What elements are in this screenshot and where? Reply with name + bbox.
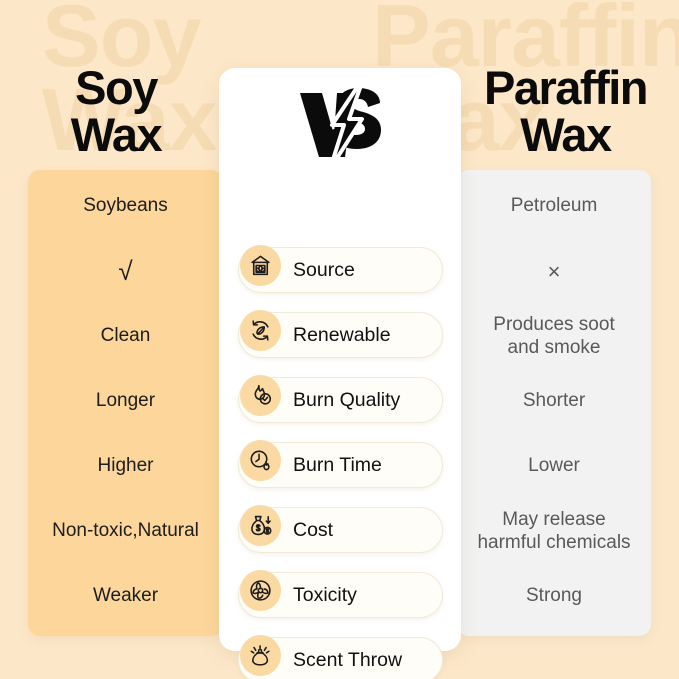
value-text: Clean bbox=[30, 325, 221, 347]
clock-flame-icon-badge bbox=[240, 440, 281, 481]
value-text: May release harmful chemicals bbox=[459, 509, 649, 554]
vs-lightning-icon bbox=[292, 77, 388, 169]
soy-value-cost: Higher bbox=[28, 434, 223, 499]
paraffin-value-burn-time: Shorter bbox=[457, 369, 651, 434]
feature-row-renewable[interactable]: Renewable bbox=[219, 303, 461, 368]
soy-value-toxicity: Non-toxic,Natural bbox=[28, 499, 223, 564]
money-bag-icon-badge bbox=[240, 505, 281, 546]
value-text: Weaker bbox=[30, 585, 221, 607]
soy-value-scent-throw: Weaker bbox=[28, 564, 223, 629]
value-text: Longer bbox=[30, 390, 221, 412]
scent-sachet-icon bbox=[248, 643, 273, 668]
money-bag-icon bbox=[248, 513, 273, 538]
value-text: Lower bbox=[459, 455, 649, 477]
paraffin-value-scent-throw: Strong bbox=[457, 564, 651, 629]
scent-sachet-icon-badge bbox=[240, 635, 281, 676]
paraffin-value-burn-quality: Produces soot and smoke bbox=[457, 304, 651, 369]
feature-label: Cost bbox=[293, 498, 333, 563]
biohazard-icon-badge bbox=[240, 570, 281, 611]
feature-label: Scent Throw bbox=[293, 628, 402, 679]
feature-list-card: SourceRenewableBurn QualityBurn TimeCost… bbox=[219, 68, 461, 651]
clock-flame-icon bbox=[248, 448, 273, 473]
paraffin-value-toxicity: May release harmful chemicals bbox=[457, 499, 651, 564]
value-text: Produces soot and smoke bbox=[459, 314, 649, 359]
feature-row-toxicity[interactable]: Toxicity bbox=[219, 563, 461, 628]
soy-value-renewable: √ bbox=[28, 239, 223, 304]
feature-row-scent-throw[interactable]: Scent Throw bbox=[219, 628, 461, 679]
feature-label: Toxicity bbox=[293, 563, 357, 628]
recycle-leaf-icon bbox=[248, 318, 273, 343]
value-text: √ bbox=[30, 256, 221, 287]
soy-sack-icon bbox=[248, 253, 273, 278]
feature-label: Burn Quality bbox=[293, 368, 400, 433]
feature-label: Renewable bbox=[293, 303, 391, 368]
paraffin-value-cost: Lower bbox=[457, 434, 651, 499]
value-text: Higher bbox=[30, 455, 221, 477]
soy-value-burn-quality: Clean bbox=[28, 304, 223, 369]
value-text: × bbox=[459, 259, 649, 285]
feature-label: Burn Time bbox=[293, 433, 382, 498]
soy-value-source: Soybeans bbox=[28, 174, 223, 239]
feature-row-cost[interactable]: Cost bbox=[219, 498, 461, 563]
paraffin-wax-values-panel: Petroleum×Produces soot and smokeShorter… bbox=[457, 170, 651, 636]
feature-row-burn-time[interactable]: Burn Time bbox=[219, 433, 461, 498]
value-text: Petroleum bbox=[459, 195, 649, 217]
value-text: Strong bbox=[459, 585, 649, 607]
flame-check-icon-badge bbox=[240, 375, 281, 416]
paraffin-value-renewable: × bbox=[457, 239, 651, 304]
soy-wax-values-panel: Soybeans√CleanLongerHigherNon-toxic,Natu… bbox=[28, 170, 223, 636]
value-text: Soybeans bbox=[30, 195, 221, 217]
feature-rows: SourceRenewableBurn QualityBurn TimeCost… bbox=[219, 238, 461, 679]
flame-check-icon bbox=[248, 383, 273, 408]
biohazard-icon bbox=[248, 578, 273, 603]
recycle-leaf-icon-badge bbox=[240, 310, 281, 351]
feature-label: Source bbox=[293, 238, 355, 303]
soy-sack-icon-badge bbox=[240, 245, 281, 286]
paraffin-value-source: Petroleum bbox=[457, 174, 651, 239]
soy-wax-title: Soy Wax bbox=[0, 64, 232, 158]
paraffin-wax-title: Paraffin Wax bbox=[452, 64, 679, 158]
value-text: Shorter bbox=[459, 390, 649, 412]
value-text: Non-toxic,Natural bbox=[30, 520, 221, 542]
versus-badge bbox=[219, 76, 461, 170]
feature-row-source[interactable]: Source bbox=[219, 238, 461, 303]
soy-value-burn-time: Longer bbox=[28, 369, 223, 434]
comparison-infographic: Soy Wax Paraffin Wax Soy Wax Paraffin Wa… bbox=[0, 0, 679, 679]
feature-row-burn-quality[interactable]: Burn Quality bbox=[219, 368, 461, 433]
